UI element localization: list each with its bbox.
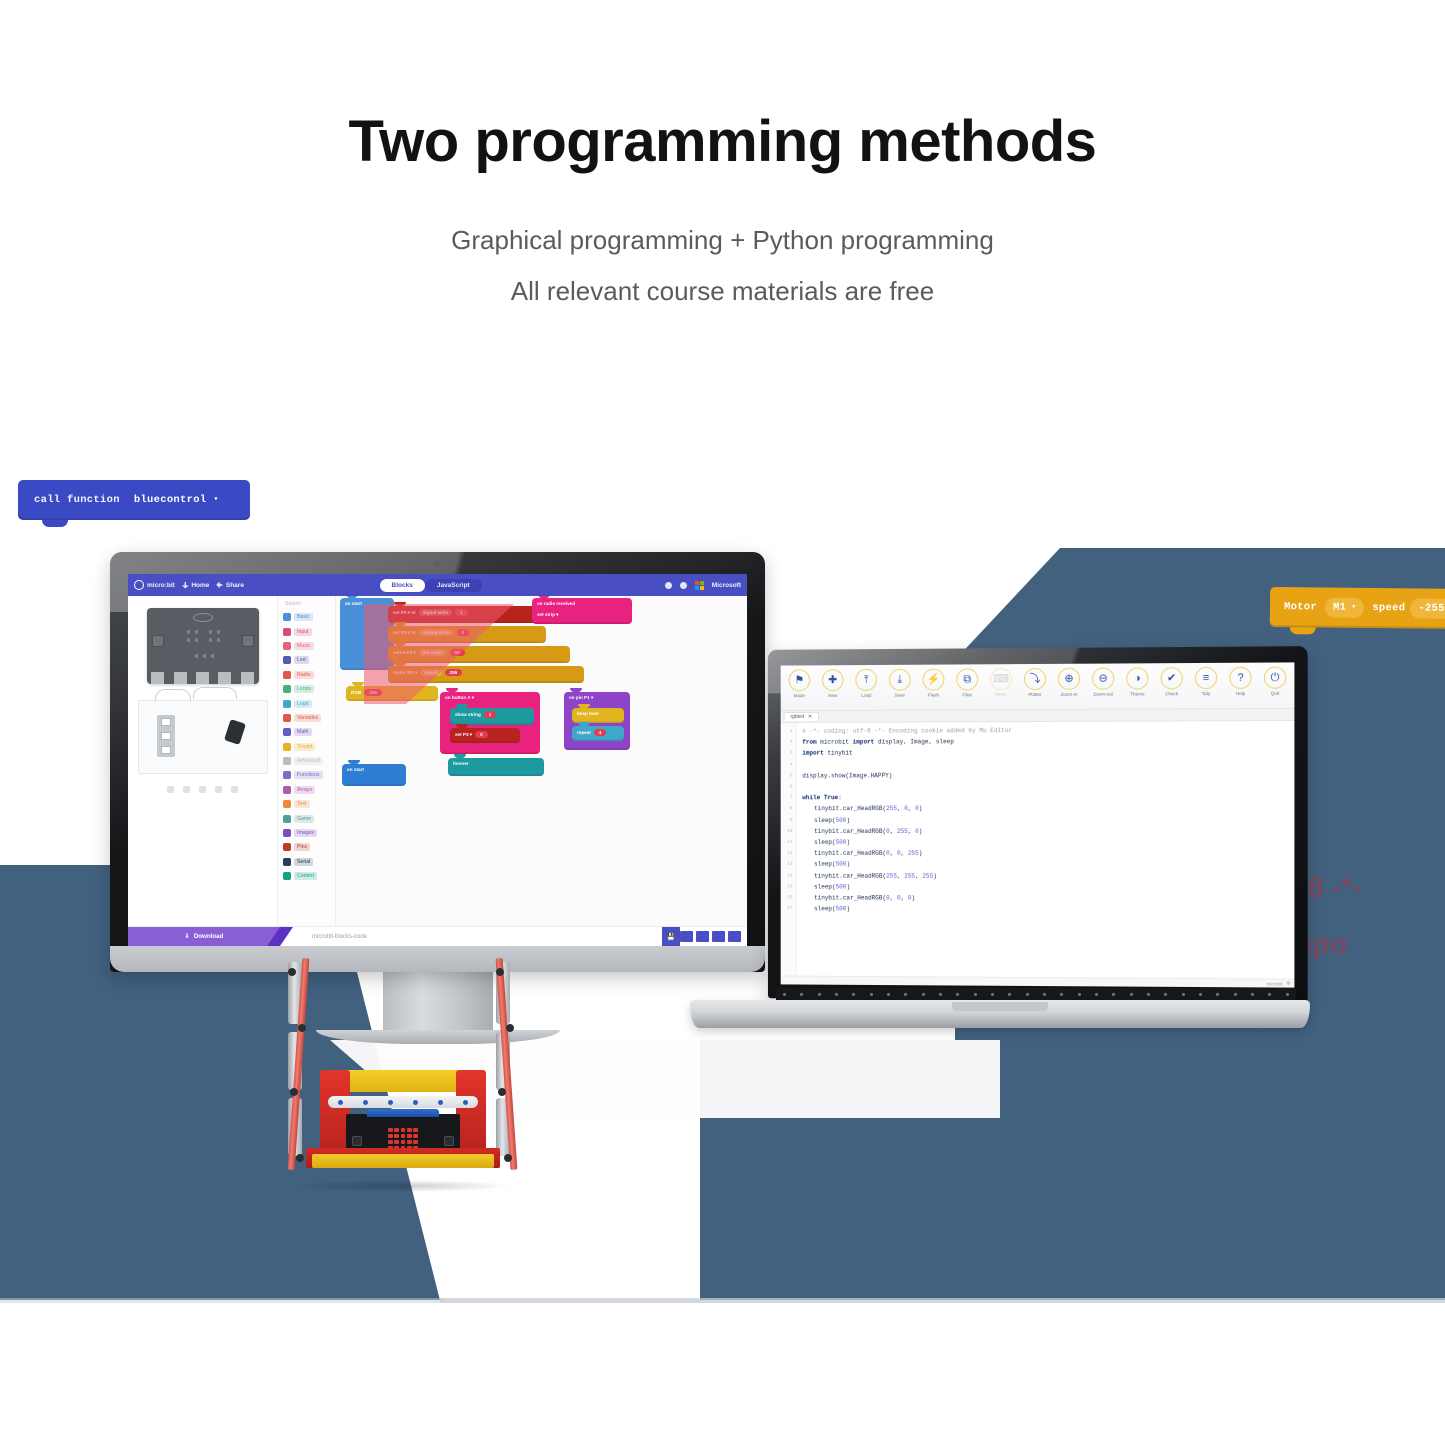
download-label: Download (194, 933, 224, 940)
code-line: sleep(500) (802, 904, 1012, 916)
palette-list: BasicInputMusicLedRadioLoopsLogicVariabl… (281, 610, 332, 883)
code-token: tinybit.car_HeadRGB( (814, 872, 886, 879)
speaker-icon (193, 613, 213, 622)
line-number: 12 (781, 848, 793, 859)
quit-icon: ⏻ (1264, 666, 1286, 688)
palette-category[interactable]: Functions (281, 768, 332, 782)
save-icon: ⤓ (889, 669, 911, 691)
block-number-input[interactable]: 1 (484, 711, 497, 718)
logo-mark-icon (134, 580, 144, 590)
code-token: 255 (886, 872, 897, 879)
category-label: Music (294, 642, 314, 650)
code-token: while (802, 794, 824, 801)
code-line: sleep(500) (802, 815, 1012, 826)
project-name-input[interactable]: microbit-blocks-code (280, 927, 662, 946)
code-token: ) (919, 806, 923, 813)
plotter-icon: ⤵ (1024, 668, 1046, 690)
share-icon (216, 582, 223, 589)
mu-code-editor[interactable]: 1234567891011121314151617 # -*- coding: … (781, 721, 1295, 979)
desktop-monitor: micro:bit Home Share Blocks JavaScript (110, 552, 765, 972)
block-row: set strip ▾ (532, 609, 632, 621)
category-color-icon (283, 628, 291, 636)
subtitle-secondary: All relevant course materials are free (0, 276, 1445, 307)
code-line: # -*- coding: utf-8 -*- Encoding cookie … (802, 725, 1012, 737)
laptop-base (690, 988, 1310, 1032)
workspace-block[interactable]: set P3 ▾0 (450, 728, 520, 743)
robot-bottom-plate (312, 1154, 494, 1168)
block-speed-label: speed (1372, 602, 1405, 614)
tab-blocks[interactable]: Blocks (380, 579, 425, 592)
share-label: Share (226, 582, 244, 589)
category-label: Images (294, 829, 317, 837)
microbit-logo[interactable]: micro:bit (134, 580, 175, 590)
block-port-dropdown[interactable]: M1 ▾ (1325, 598, 1365, 618)
block-notch-bottom-icon (42, 520, 68, 527)
slow-motion-icon[interactable] (199, 786, 206, 793)
category-label: Game (294, 815, 314, 823)
block-label: repeat (577, 730, 591, 735)
block-label: on start (347, 767, 364, 772)
mu-file-tab[interactable]: rgbled ✕ (784, 712, 819, 721)
theme-icon: ◑ (1126, 667, 1148, 689)
category-label: Radio (294, 671, 314, 679)
code-line: tinybit.car_HeadRGB(255, 255, 255) (802, 870, 1012, 882)
mode-icon: ⚑ (789, 669, 811, 691)
code-line (802, 781, 1012, 792)
workspace-block[interactable]: show string1 (450, 708, 534, 725)
code-token: # -*- coding: utf-8 -*- Encoding cookie … (802, 727, 1012, 735)
makecode-header: micro:bit Home Share Blocks JavaScript (128, 574, 747, 596)
line-number: 4 (781, 759, 793, 770)
mu-toolbar-label: Plotter (1028, 692, 1041, 697)
play-icon[interactable] (167, 786, 174, 793)
microsoft-logo-icon (695, 581, 704, 590)
button-b-icon (444, 1136, 454, 1146)
block-function-name[interactable]: bluecontrol (134, 494, 207, 506)
mu-toolbar-button-flash[interactable]: ⚡Flash (917, 669, 951, 698)
code-token: , (915, 872, 922, 879)
category-color-icon (283, 757, 291, 765)
mu-toolbar-button-mode[interactable]: ⚑Mode (783, 669, 816, 698)
code-token: : (838, 794, 842, 801)
workspace-block[interactable]: repeat4 (572, 726, 624, 741)
category-label: Advanced (294, 757, 323, 765)
line-number: 1 (781, 726, 793, 737)
workspace-block[interactable]: beep tone (572, 708, 624, 723)
mu-toolbar-button-zoom-out[interactable]: ⊖Zoom-out (1086, 667, 1120, 696)
line-number: 15 (781, 881, 793, 892)
block-notch-bottom-icon (1290, 627, 1316, 634)
mu-toolbar-label: Check (1165, 691, 1178, 696)
code-token: ) (846, 906, 850, 913)
panel-shadow-left (0, 1298, 445, 1303)
palette-category[interactable]: Serial (281, 855, 332, 869)
mu-toolbar-label: Flash (928, 692, 939, 697)
palette-category[interactable]: Music (281, 639, 332, 653)
category-label: Basic (294, 613, 313, 621)
code-token: True (824, 794, 838, 801)
workspace-block[interactable]: on radio receivedset strip ▾ (532, 598, 632, 624)
palette-category[interactable]: Pins (281, 840, 332, 854)
category-color-icon (283, 872, 291, 880)
code-token: sleep( (814, 883, 836, 890)
code-line: import tinybit (802, 747, 1012, 759)
microbit-usb-icon (367, 1109, 440, 1117)
close-icon[interactable]: ✕ (808, 714, 812, 720)
mu-toolbar-button-save[interactable]: ⤓Save (883, 669, 917, 698)
download-button[interactable]: ⇩ Download (128, 927, 280, 946)
line-number: 5 (781, 770, 793, 781)
code-token: tinybit (827, 750, 852, 757)
files-icon: ⧉ (956, 668, 978, 690)
category-label: Tinybit (294, 743, 315, 751)
block-row: on button A ▾ (440, 692, 540, 704)
mu-toolbar-label: REPL (995, 692, 1007, 697)
code-token: display.show(Image.HAPPY) (802, 772, 892, 779)
code-token: 255 (922, 872, 933, 879)
code-token: tinybit.car_HeadRGB( (814, 850, 886, 857)
code-token: tinybit.car_HeadRGB( (814, 806, 886, 813)
palette-category[interactable]: Text (281, 797, 332, 811)
code-line: from microbit import display, Image, sle… (802, 736, 1012, 748)
laptop-screen: ⚑Mode✚New⤒Load⤓Save⚡Flash⧉Files⌨REPL⤵Plo… (781, 662, 1295, 987)
mu-toolbar-label: Load (861, 693, 871, 698)
category-color-icon (283, 815, 291, 823)
category-label: Serial (294, 858, 313, 866)
line-number: 9 (781, 815, 793, 826)
category-label: Logic (294, 700, 312, 708)
code-token: 255 (904, 872, 915, 879)
mu-toolbar-button-plotter[interactable]: ⤵Plotter (1018, 668, 1052, 697)
code-line: display.show(Image.HAPPY) (802, 770, 1012, 782)
code-line: tinybit.car_HeadRGB(0, 255, 0) (802, 826, 1012, 837)
code-token: tinybit.car_HeadRGB( (814, 894, 886, 901)
block-keyword-label: Motor (1284, 601, 1317, 613)
repl-icon: ⌨ (990, 668, 1012, 690)
block-number-input[interactable]: 0 (475, 731, 488, 738)
code-token: 255 (908, 850, 919, 857)
block-label: set strip ▾ (537, 612, 558, 618)
mu-toolbar-label: Tidy (1202, 691, 1211, 696)
block-label: set P3 ▾ (455, 732, 472, 738)
edge-connector-pins (147, 670, 259, 684)
block-row: repeat4 (572, 726, 624, 739)
palette-search-label[interactable]: Search (281, 601, 332, 610)
block-call-function[interactable]: call function bluecontrol ▾ (18, 480, 250, 520)
mute-icon[interactable] (215, 786, 222, 793)
mu-toolbar-label: Quit (1271, 691, 1280, 696)
code-token: 500 (836, 861, 847, 868)
palette-category[interactable]: Basic (281, 610, 332, 624)
code-token: sleep( (814, 861, 836, 868)
block-row: beep tone (572, 708, 624, 719)
robot-yellow-plate (348, 1070, 458, 1092)
line-number: 8 (781, 804, 793, 815)
mu-toolbar-button-zoom-in[interactable]: ⊕Zoom-in (1052, 668, 1086, 697)
code-line: sleep(500) (802, 859, 1012, 870)
home-label: Home (191, 582, 209, 589)
palette-category[interactable]: Tinybit (281, 740, 332, 754)
category-color-icon (283, 613, 291, 621)
category-color-icon (283, 800, 291, 808)
palette-category[interactable]: Variables (281, 711, 332, 725)
share-button[interactable]: Share (216, 582, 244, 589)
category-label: Pins (294, 843, 310, 851)
block-label: on button A ▾ (445, 695, 474, 701)
code-token: 500 (836, 906, 847, 913)
block-label: on start (345, 601, 362, 606)
category-label: Input (294, 628, 312, 636)
block-label: show string (455, 712, 481, 717)
microbit-simulator-board[interactable] (147, 608, 259, 684)
category-color-icon (283, 700, 291, 708)
code-token: sleep( (814, 817, 836, 824)
driver-chip-icon (157, 715, 175, 757)
monitor-screen: micro:bit Home Share Blocks JavaScript (128, 574, 747, 946)
category-color-icon (283, 786, 291, 794)
block-label: forever (453, 761, 469, 766)
webcam-icon (435, 561, 440, 566)
fullscreen-icon[interactable] (231, 786, 238, 793)
monitor-bezel: micro:bit Home Share Blocks JavaScript (110, 552, 765, 972)
robot-left-tower (288, 958, 310, 1170)
code-token: 255 (886, 806, 897, 813)
help-icon: ? (1229, 667, 1251, 689)
code-text[interactable]: # -*- coding: utf-8 -*- Encoding cookie … (796, 722, 1012, 977)
mu-toolbar-label: Mode (794, 693, 805, 698)
palette-category[interactable]: Math (281, 725, 332, 739)
simulator-controls[interactable] (134, 786, 271, 793)
line-number: 11 (781, 837, 793, 848)
code-line: tinybit.car_HeadRGB(255, 0, 0) (802, 803, 1012, 814)
block-row: on pin P1 ▾ (564, 692, 630, 704)
code-token: display, Image, sleep (878, 738, 954, 745)
button-b-icon[interactable] (242, 635, 254, 647)
block-row: forever (448, 758, 544, 769)
code-line: tinybit.car_HeadRGB(0, 0, 0) (802, 892, 1012, 904)
category-label: Control (294, 872, 317, 880)
mu-toolbar-button-new[interactable]: ✚New (816, 669, 849, 698)
category-color-icon (283, 728, 291, 736)
palette-category[interactable]: Led (281, 653, 332, 667)
zoom-in-icon: ⊕ (1058, 668, 1080, 690)
line-number: 13 (781, 859, 793, 870)
load-icon: ⤒ (855, 669, 877, 691)
code-token: ) (933, 872, 937, 879)
robot-car (272, 958, 534, 1198)
block-port-label: M1 (1333, 602, 1346, 614)
home-button[interactable]: Home (182, 582, 210, 589)
block-number-input[interactable]: 4 (594, 729, 607, 736)
tab-javascript[interactable]: JavaScript (425, 579, 482, 592)
code-token: 255 (897, 828, 908, 835)
restart-icon[interactable] (183, 786, 190, 793)
mu-toolbar-label: New (828, 693, 837, 698)
makecode-footer: ⇩ Download microbit-blocks-code 💾 (128, 926, 747, 946)
category-color-icon (283, 743, 291, 751)
code-line (802, 759, 1012, 771)
mu-toolbar-button-quit[interactable]: ⏻Quit (1258, 666, 1293, 695)
zoom-out-icon: ⊖ (1092, 668, 1114, 690)
category-color-icon (283, 829, 291, 837)
code-token: from (802, 739, 820, 746)
category-label: Functions (294, 771, 323, 779)
block-row: on radio received (532, 598, 632, 609)
motor-icon (223, 719, 245, 745)
mu-toolbar-label: Save (895, 693, 905, 698)
block-label: beep tone (577, 711, 599, 716)
makecode-logo-text: micro:bit (147, 582, 175, 589)
workspace-block[interactable]: forever (448, 758, 544, 776)
mu-toolbar-button-load[interactable]: ⤒Load (849, 669, 883, 698)
mu-file-tab-label: rgbled (790, 714, 804, 720)
category-color-icon (283, 714, 291, 722)
robot-shadow (292, 1180, 514, 1192)
code-token: ) (846, 817, 850, 824)
code-token: ) (919, 828, 923, 835)
code-line: while True: (802, 792, 1012, 803)
chevron-down-icon: ▾ (1351, 604, 1356, 612)
code-token: sleep( (814, 906, 836, 913)
code-token: ) (846, 861, 850, 868)
code-token: sleep( (814, 839, 836, 846)
category-label: Loops (294, 685, 314, 693)
palette-category[interactable]: Input (281, 624, 332, 638)
palette-category[interactable]: Radio (281, 668, 332, 682)
button-a-icon (352, 1136, 362, 1146)
code-token: 500 (836, 839, 847, 846)
block-category-palette[interactable]: Search BasicInputMusicLedRadioLoopsLogic… (278, 596, 336, 926)
new-file-icon: ✚ (822, 669, 844, 691)
block-number-input[interactable]: 255 (445, 669, 463, 676)
palette-category[interactable]: Images (281, 826, 332, 840)
page-title: Two programming methods (0, 108, 1445, 175)
mu-mode-label[interactable]: microbit (1267, 981, 1283, 986)
palette-category[interactable]: Control (281, 869, 332, 883)
category-label: Led (294, 656, 309, 664)
block-label: RGB (351, 690, 361, 695)
mu-toolbar-button-theme[interactable]: ◑Theme (1120, 667, 1154, 696)
code-token: ) (919, 850, 923, 857)
webcam-icon (1033, 655, 1037, 659)
white-floor (0, 1300, 1445, 1445)
palette-category[interactable]: Advanced (281, 754, 332, 768)
code-line: sleep(500) (802, 881, 1012, 893)
palette-category[interactable]: Game (281, 811, 332, 825)
line-number: 2 (781, 737, 793, 748)
mu-toolbar-button-tidy[interactable]: ≡Tidy (1189, 667, 1223, 696)
category-color-icon (283, 656, 291, 664)
mu-toolbar-button-check[interactable]: ✔Check (1154, 667, 1188, 696)
laptop: ⚑Mode✚New⤒Load⤓Save⚡Flash⧉Files⌨REPL⤵Plo… (690, 648, 1310, 1008)
line-number: 6 (781, 781, 793, 792)
line-number: 17 (781, 903, 793, 914)
block-row: show string1 (450, 708, 534, 721)
line-number: 14 (781, 870, 793, 881)
block-row: set P3 ▾0 (450, 728, 520, 741)
settings-icon[interactable]: ⚙ (1286, 981, 1290, 987)
block-keyword-label: call function (34, 494, 120, 506)
help-icon[interactable] (680, 582, 687, 589)
mu-toolbar-button-files[interactable]: ⧉Files (950, 668, 984, 697)
download-icon: ⇩ (185, 933, 190, 940)
subtitle-primary: Graphical programming + Python programmi… (0, 225, 1445, 256)
robot-sensor-bar (328, 1096, 478, 1108)
mu-toolbar-label: Files (962, 692, 972, 697)
mu-toolbar-button-help[interactable]: ?Help (1223, 667, 1258, 696)
block-motor[interactable]: Motor M1 ▾ speed -255 (1270, 587, 1445, 629)
category-label: Arrays (294, 786, 315, 794)
panel-shadow-bottom (440, 1298, 1445, 1303)
mu-toolbar-label: Help (1236, 691, 1246, 696)
chevron-down-icon[interactable]: ▾ (213, 496, 218, 504)
tidy-icon: ≡ (1195, 667, 1217, 689)
mu-toolbar-label: Zoom-out (1093, 692, 1113, 697)
code-line: sleep(500) (802, 837, 1012, 848)
editor-mode-tabs: Blocks JavaScript (380, 579, 482, 592)
workspace-block[interactable]: on start (342, 764, 406, 786)
category-label: Text (294, 800, 310, 808)
mu-toolbar-label: Zoom-in (1061, 692, 1078, 697)
microsoft-brand-label: Microsoft (712, 582, 741, 589)
blocks-workspace[interactable]: on startset P0 ▾ todigital write1set P1 … (336, 596, 747, 926)
robot-right-bracket (456, 1070, 486, 1150)
trackpad-notch (952, 1002, 1048, 1011)
category-color-icon (283, 671, 291, 679)
palette-category[interactable]: Arrays (281, 783, 332, 797)
palette-category[interactable]: Loops (281, 682, 332, 696)
code-token: import (853, 739, 878, 746)
category-color-icon (283, 642, 291, 650)
promo-graphic: g utf-8 -*- bit impo ybit Two programmin… (0, 0, 1445, 1445)
makecode-body: Search BasicInputMusicLedRadioLoopsLogic… (128, 596, 747, 926)
mu-toolbar-button-repl[interactable]: ⌨REPL (984, 668, 1018, 697)
mu-toolbar[interactable]: ⚑Mode✚New⤒Load⤓Save⚡Flash⧉Files⌨REPL⤵Plo… (781, 662, 1295, 711)
gear-icon[interactable] (665, 582, 672, 589)
category-color-icon (283, 685, 291, 693)
line-number: 16 (781, 892, 793, 903)
line-number-gutter: 1234567891011121314151617 (781, 723, 797, 976)
category-color-icon (283, 858, 291, 866)
line-number: 3 (781, 748, 793, 759)
code-token: 500 (836, 883, 847, 890)
home-icon (182, 582, 189, 589)
line-number: 10 (781, 826, 793, 837)
simulator-breakout-board (138, 700, 268, 774)
code-token: ) (846, 839, 850, 846)
block-label: on radio received (537, 601, 575, 606)
laptop-lid: ⚑Mode✚New⤒Load⤓Save⚡Flash⧉Files⌨REPL⤵Plo… (768, 646, 1308, 1002)
category-label: Variables (294, 714, 321, 722)
code-token: import (802, 750, 827, 757)
simulator-panel (128, 596, 278, 926)
check-icon: ✔ (1161, 667, 1183, 689)
header-right-actions: Microsoft (665, 581, 741, 590)
category-label: Math (294, 728, 312, 736)
mu-toolbar-label: Theme (1130, 691, 1144, 696)
block-label: on pin P1 ▾ (569, 695, 593, 701)
line-number: 7 (781, 793, 793, 804)
palette-category[interactable]: Logic (281, 696, 332, 710)
code-token: ) (846, 883, 850, 890)
block-row: on start (342, 764, 406, 775)
code-token: microbit (820, 739, 852, 746)
block-notch-top-icon (42, 473, 68, 480)
robot-right-tower (496, 958, 518, 1170)
block-speed-value[interactable]: -255 (1410, 598, 1445, 618)
save-button[interactable]: 💾 (662, 927, 680, 946)
button-a-icon[interactable] (152, 635, 164, 647)
